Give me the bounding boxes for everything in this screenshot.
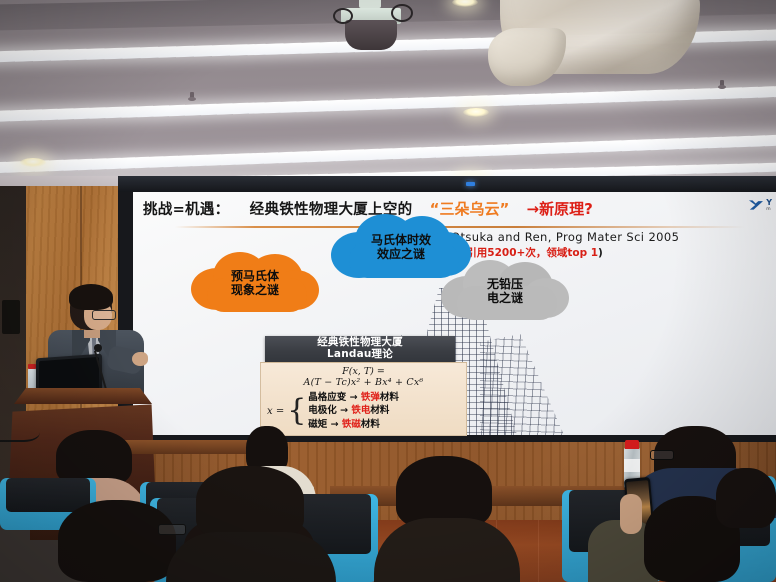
brand-mark-icon [748, 198, 764, 212]
downlight [20, 158, 46, 167]
mapping-row: 磁矩 → 铁磁材料 [308, 418, 399, 431]
title-part-1: 挑战=机遇： [143, 202, 229, 218]
logo-name: Y [766, 199, 772, 207]
podium-top [8, 388, 158, 404]
bottle-cap [625, 440, 639, 449]
downlight [463, 108, 489, 117]
cloud-orange: 预马氏体 现象之谜 [191, 252, 319, 314]
audience-shoulders [166, 532, 336, 582]
glasses-icon [158, 524, 186, 535]
glasses-icon [650, 450, 674, 460]
podium-water-bottle [28, 368, 36, 390]
speaker-hair [69, 284, 113, 310]
cloud-orange-line1: 预马氏体 [231, 269, 279, 283]
mapping-row: 电极化 → 铁电材料 [308, 404, 399, 417]
brace-glyph: { [287, 396, 306, 426]
citation-line-2: (被引用5200+次，领域top 1) [451, 245, 771, 260]
citation-block: Otsuka and Ren, Prog Mater Sci 2005 (被引用… [451, 230, 771, 260]
audience-head [716, 468, 776, 528]
landau-formula-box: F(x, T) = A(T − Tc)x² + Bx⁴ + Cx⁶ x = { … [260, 362, 467, 436]
cloud-blue-line2: 效应之谜 [371, 247, 431, 261]
photographer-hand [620, 494, 642, 534]
bottle-cap [28, 364, 36, 369]
sprinkler-icon [188, 92, 196, 104]
hanging-plastic-bundle [488, 28, 566, 86]
organization-logo: Y m [748, 198, 772, 212]
cloud-grey-line2: 电之谜 [487, 291, 523, 305]
sprinkler-icon [718, 80, 726, 92]
cloud-blue-line1: 马氏体时效 [371, 233, 431, 247]
audience-head [58, 500, 176, 582]
screen-top-rail [118, 176, 776, 192]
microphone-icon [94, 344, 102, 352]
speaker-hand [132, 352, 148, 366]
logo-sub: m [766, 207, 772, 212]
formula-prefix: x = [267, 406, 284, 417]
bottle-label [624, 459, 640, 472]
citation-line-1: Otsuka and Ren, Prog Mater Sci 2005 [451, 230, 771, 244]
lecture-hall-photo: 挑战=机遇： 经典铁性物理大厦上空的 “三朵乌云” →新原理? Y m [0, 0, 776, 582]
ceiling [0, 0, 776, 186]
theory-banner: 经典铁性物理大厦 Landau理论 [265, 336, 455, 362]
banner-line-2: Landau理论 [327, 349, 393, 361]
audience-head [196, 466, 304, 540]
formula-line-1: F(x, T) = [261, 366, 466, 377]
cloud-orange-line2: 现象之谜 [231, 283, 279, 297]
floor-cable [0, 418, 40, 442]
glasses-icon [92, 310, 116, 320]
screen-status-led [466, 182, 475, 186]
formula-line-2: A(T − Tc)x² + Bx⁴ + Cx⁶ [261, 377, 466, 388]
mapping-row: 晶格应变 → 铁弹材料 [308, 391, 399, 404]
citation-highlight: 被引用5200+次，领域top 1 [456, 247, 598, 259]
cloud-grey-line1: 无铅压 [487, 277, 523, 291]
title-part-4: →新原理? [527, 200, 593, 218]
wall-black-fixture [2, 300, 20, 334]
ceiling-projector [335, 0, 405, 52]
ceiling-light-strip [0, 84, 776, 124]
cloud-grey: 无铅压 电之谜 [441, 260, 569, 322]
order-parameter-mappings: x = { 晶格应变 → 铁弹材料 电极化 → 铁电材料 磁矩 → 铁磁材料 [267, 391, 399, 431]
